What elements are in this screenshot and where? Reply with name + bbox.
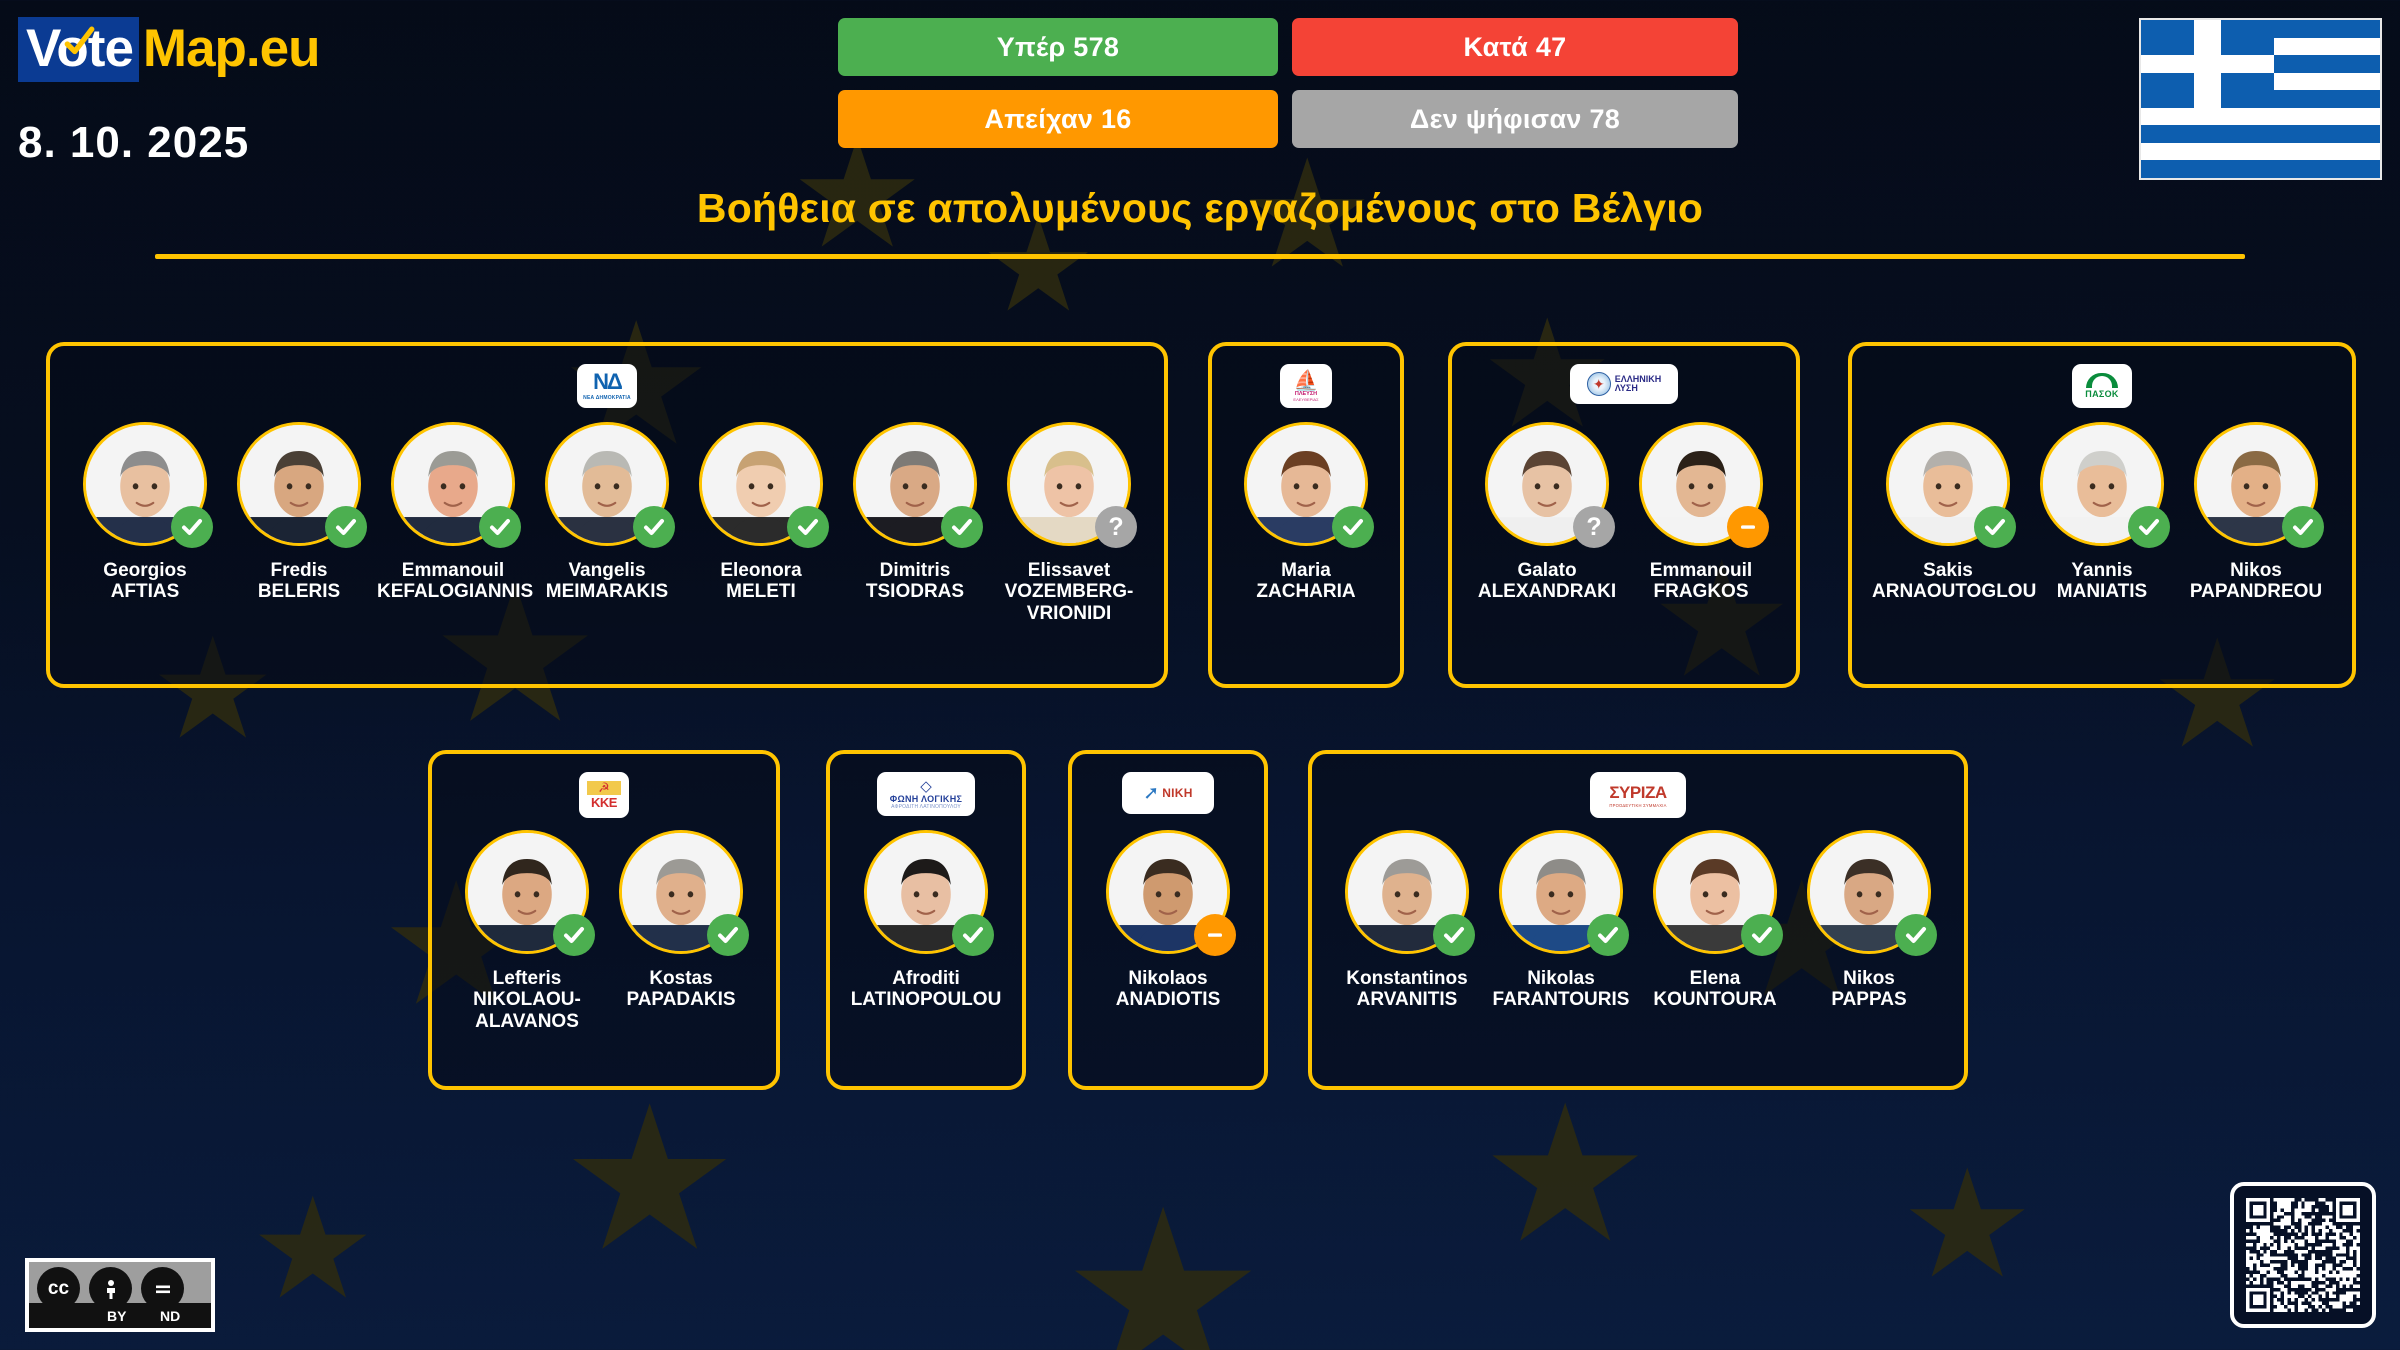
mep-first-name: Nikolas	[1485, 968, 1637, 989]
portrait-wrapper	[1886, 422, 2010, 546]
mep-first-name: Lefteris	[451, 968, 603, 989]
mep-name: Galato ALEXANDRAKI	[1471, 560, 1623, 603]
portrait-wrapper	[864, 830, 988, 954]
mep-last-name: AFTIAS	[69, 581, 221, 602]
portrait-wrapper	[1639, 422, 1763, 546]
mep-card[interactable]: ? Elissavet VOZEMBERG-VRIONIDI	[992, 422, 1146, 624]
party-group-el[interactable]: ΕΛΛΗΝΙΚΗΛΥΣΗ ? Galato ALEXANDRAKI	[1448, 342, 1800, 688]
mep-card[interactable]: Yannis MANIATIS	[2025, 422, 2179, 603]
member-list: Konstantinos ARVANITIS Nikolas FARANTOUR…	[1312, 830, 1964, 1011]
mep-name: Nikos PAPPAS	[1793, 968, 1945, 1011]
mep-name: Lefteris NIKOLAOU-ALAVANOS	[451, 968, 603, 1032]
portrait-wrapper	[1807, 830, 1931, 954]
portrait-wrapper	[699, 422, 823, 546]
mep-card[interactable]: Sakis ARNAOUTOGLOU	[1871, 422, 2025, 603]
party-logo-subtext: ΝΕΑ ΔΗΜΟΚΡΑΤΙΑ	[583, 395, 631, 401]
party-logo-subtext: ΑΦΡΟΔΙΤΗ ΛΑΤΙΝΟΠΟΥΛΟΥ	[891, 804, 961, 810]
mep-first-name: Galato	[1471, 560, 1623, 581]
star-decoration: ★	[1900, 1150, 2034, 1300]
mep-first-name: Vangelis	[531, 560, 683, 581]
party-group-pasok[interactable]: ΠΑΣΟΚ Sakis ARNAOUTOGLOU	[1848, 342, 2356, 688]
vote-tally-group: Υπέρ 578 Κατά 47 Απείχαν 16 Δεν ψήφισαν …	[838, 18, 1738, 148]
vote-badge-did-not-vote: ?	[1095, 506, 1137, 548]
mep-card[interactable]: Nikolaos ANADIOTIS	[1091, 830, 1245, 1011]
member-list: Lefteris NIKOLAOU-ALAVANOS Kostas PAPADA…	[432, 830, 776, 1032]
mep-last-name: VOZEMBERG-VRIONIDI	[993, 581, 1145, 624]
mep-last-name: FARANTOURIS	[1485, 989, 1637, 1010]
mep-last-name: PAPADAKIS	[605, 989, 757, 1010]
party-logo-text: ΕΛΛΗΝΙΚΗΛΥΣΗ	[1615, 375, 1662, 394]
tally-against[interactable]: Κατά 47	[1292, 18, 1738, 76]
mep-name: Fredis BELERIS	[223, 560, 375, 603]
portrait-wrapper	[465, 830, 589, 954]
party-logo-kke[interactable]: KKE	[579, 772, 629, 818]
star-decoration: ★	[250, 1180, 376, 1320]
mep-name: Kostas PAPADAKIS	[605, 968, 757, 1011]
vote-badge-abstain	[1727, 506, 1769, 548]
portrait-wrapper	[2040, 422, 2164, 546]
vote-badge-yes	[1741, 914, 1783, 956]
member-list: Georgios AFTIAS Fredis BELERIS	[50, 422, 1164, 624]
party-logo-niki[interactable]: ➚ΝΙΚΗ	[1122, 772, 1214, 814]
mep-last-name: ALEXANDRAKI	[1471, 581, 1623, 602]
tally-did-not-vote[interactable]: Δεν ψήφισαν 78	[1292, 90, 1738, 148]
member-list: ? Galato ALEXANDRAKI Emmanouil FRAGKOS	[1452, 422, 1796, 603]
portrait-wrapper: ?	[1007, 422, 1131, 546]
party-logo-mark: ΝΔ	[593, 371, 621, 393]
vote-badge-yes	[479, 506, 521, 548]
mep-card[interactable]: Elena KOUNTOURA	[1638, 830, 1792, 1011]
tally-for[interactable]: Υπέρ 578	[838, 18, 1278, 76]
mep-name: Elena KOUNTOURA	[1639, 968, 1791, 1011]
portrait-wrapper	[1244, 422, 1368, 546]
portrait-wrapper: ?	[1485, 422, 1609, 546]
mep-last-name: TSIODRAS	[839, 581, 991, 602]
mep-name: Nikolaos ANADIOTIS	[1092, 968, 1244, 1011]
mep-card[interactable]: ? Galato ALEXANDRAKI	[1470, 422, 1624, 603]
party-group-nd[interactable]: ΝΔΝΕΑ ΔΗΜΟΚΡΑΤΙΑ Georgios AFTIAS	[46, 342, 1168, 688]
creative-commons-badge[interactable]: cc BY ND	[25, 1258, 215, 1332]
portrait-wrapper	[391, 422, 515, 546]
mep-last-name: MEIMARAKIS	[531, 581, 683, 602]
star-decoration: ★	[1060, 1180, 1266, 1350]
mep-name: Yannis MANIATIS	[2026, 560, 2178, 603]
vote-badge-yes	[707, 914, 749, 956]
hammer-sickle-icon	[587, 781, 621, 795]
mep-card[interactable]: Nikos PAPPAS	[1792, 830, 1946, 1011]
title-divider	[155, 254, 2245, 259]
ship-icon: ⛵	[1294, 371, 1319, 391]
vote-badge-yes	[1974, 506, 2016, 548]
mep-first-name: Sakis	[1872, 560, 2024, 581]
portrait-wrapper	[2194, 422, 2318, 546]
party-logo-subtext: ΕΛΕΥΘΕΡΙΑΣ	[1293, 397, 1318, 402]
mep-card[interactable]: Konstantinos ARVANITIS	[1330, 830, 1484, 1011]
mep-name: Afroditi LATINOPOULOU	[850, 968, 1002, 1011]
mep-first-name: Yannis	[2026, 560, 2178, 581]
mep-name: Elissavet VOZEMBERG-VRIONIDI	[993, 560, 1145, 624]
vote-badge-yes	[633, 506, 675, 548]
party-logo-pasok[interactable]: ΠΑΣΟΚ	[2072, 364, 2132, 408]
mep-name: Maria ZACHARIA	[1230, 560, 1382, 603]
mep-card[interactable]: Fredis BELERIS	[222, 422, 376, 603]
mep-card[interactable]: Nikolas FARANTOURIS	[1484, 830, 1638, 1011]
party-logo-syriza[interactable]: ΣΥΡΙΖΑΠΡΟΟΔΕΥΤΙΚΗ ΣΥΜΜΑΧΙΑ	[1590, 772, 1686, 818]
portrait-wrapper	[237, 422, 361, 546]
mep-card[interactable]: Kostas PAPADAKIS	[604, 830, 758, 1011]
mep-first-name: Maria	[1230, 560, 1382, 581]
party-logo-text: ΝΙΚΗ	[1162, 786, 1193, 800]
mep-card[interactable]: Lefteris NIKOLAOU-ALAVANOS	[450, 830, 604, 1032]
mep-name: Konstantinos ARVANITIS	[1331, 968, 1483, 1011]
mep-name: Georgios AFTIAS	[69, 560, 221, 603]
vote-badge-yes	[2282, 506, 2324, 548]
vote-badge-yes	[1587, 914, 1629, 956]
portrait-wrapper	[619, 830, 743, 954]
mep-first-name: Elissavet	[993, 560, 1145, 581]
portrait-wrapper	[853, 422, 977, 546]
checkmark-icon	[62, 26, 96, 60]
mep-card[interactable]: Maria ZACHARIA	[1229, 422, 1383, 603]
arrow-icon: ➚	[1143, 784, 1159, 803]
star-decoration: ★	[1480, 1080, 1650, 1270]
mep-last-name: LATINOPOULOU	[850, 989, 1002, 1010]
vote-badge-yes	[941, 506, 983, 548]
party-logo-fl[interactable]: ◇ΦΩΝΗ ΛΟΓΙΚΗΣΑΦΡΟΔΙΤΗ ΛΑΤΙΝΟΠΟΥΛΟΥ	[877, 772, 975, 816]
party-logo-text: ΠΑΣΟΚ	[2085, 389, 2118, 399]
mep-card[interactable]: Georgios AFTIAS	[68, 422, 222, 603]
mep-last-name: KOUNTOURA	[1639, 989, 1791, 1010]
mep-first-name: Fredis	[223, 560, 375, 581]
page-title: Βοήθεια σε απολυμένους εργαζομένους στο …	[0, 185, 2400, 232]
party-group-fl[interactable]: ◇ΦΩΝΗ ΛΟΓΙΚΗΣΑΦΡΟΔΙΤΗ ΛΑΤΙΝΟΠΟΥΛΟΥ Afrod…	[826, 750, 1026, 1090]
greece-flag-icon	[2139, 18, 2382, 180]
mep-last-name: ARVANITIS	[1331, 989, 1483, 1010]
party-logo-text: KKE	[591, 795, 617, 810]
party-logo-text: ΣΥΡΙΖΑ	[1609, 783, 1666, 803]
star-decoration: ★	[560, 1080, 739, 1280]
member-list: Afroditi LATINOPOULOU	[830, 830, 1022, 1011]
portrait-wrapper	[545, 422, 669, 546]
mep-last-name: NIKOLAOU-ALAVANOS	[451, 989, 603, 1032]
mep-first-name: Eleonora	[685, 560, 837, 581]
mep-last-name: FRAGKOS	[1625, 581, 1777, 602]
vote-title-block: Βοήθεια σε απολυμένους εργαζομένους στο …	[0, 185, 2400, 259]
mep-name: Eleonora MELETI	[685, 560, 837, 603]
logo-map-text: Map.eu	[139, 19, 320, 78]
site-logo[interactable]: VoteMap.eu	[18, 18, 320, 79]
mep-name: Nikos PAPANDREOU	[2180, 560, 2332, 603]
mep-last-name: KEFALOGIANNIS	[377, 581, 529, 602]
member-list: Maria ZACHARIA	[1212, 422, 1400, 603]
party-logo-el[interactable]: ΕΛΛΗΝΙΚΗΛΥΣΗ	[1570, 364, 1678, 404]
party-groups-row-2: KKE Lefteris NIKOLAOU-ALAVANOS	[0, 750, 2400, 1108]
party-group-syriza[interactable]: ΣΥΡΙΖΑΠΡΟΟΔΕΥΤΙΚΗ ΣΥΜΜΑΧΙΑ Konstantinos …	[1308, 750, 1968, 1090]
mep-name: Nikolas FARANTOURIS	[1485, 968, 1637, 1011]
mep-first-name: Elena	[1639, 968, 1791, 989]
mep-first-name: Georgios	[69, 560, 221, 581]
vote-badge-abstain	[1194, 914, 1236, 956]
portrait-wrapper	[1345, 830, 1469, 954]
party-group-kke[interactable]: KKE Lefteris NIKOLAOU-ALAVANOS	[428, 750, 780, 1090]
mep-first-name: Emmanouil	[1625, 560, 1777, 581]
mep-name: Sakis ARNAOUTOGLOU	[1872, 560, 2024, 603]
mep-last-name: ARNAOUTOGLOU	[1872, 581, 2024, 602]
party-groups-row-1: ΝΔΝΕΑ ΔΗΜΟΚΡΑΤΙΑ Georgios AFTIAS	[0, 342, 2400, 702]
party-group-pl[interactable]: ⛵ΠΛΕΥΣΗΕΛΕΥΘΕΡΙΑΣ Maria ZACHARIA	[1208, 342, 1404, 688]
mep-last-name: ZACHARIA	[1230, 581, 1382, 602]
vote-badge-yes	[1332, 506, 1374, 548]
mep-last-name: PAPPAS	[1793, 989, 1945, 1010]
portrait-wrapper	[1106, 830, 1230, 954]
mep-last-name: MELETI	[685, 581, 837, 602]
portrait-wrapper	[83, 422, 207, 546]
portrait-wrapper	[1499, 830, 1623, 954]
party-logo-nd[interactable]: ΝΔΝΕΑ ΔΗΜΟΚΡΑΤΙΑ	[577, 364, 637, 408]
cc-by-label: BY	[107, 1308, 126, 1324]
compass-icon	[1587, 372, 1611, 396]
vote-badge-yes	[952, 914, 994, 956]
qr-code[interactable]	[2230, 1182, 2376, 1328]
mep-first-name: Konstantinos	[1331, 968, 1483, 989]
mep-first-name: Afroditi	[850, 968, 1002, 989]
mep-first-name: Nikos	[1793, 968, 1945, 989]
cc-nd-label: ND	[160, 1308, 180, 1324]
vote-badge-yes	[553, 914, 595, 956]
mep-name: Emmanouil KEFALOGIANNIS	[377, 560, 529, 603]
mep-card[interactable]: Vangelis MEIMARAKIS	[530, 422, 684, 603]
mep-card[interactable]: Afroditi LATINOPOULOU	[849, 830, 1003, 1011]
mep-first-name: Kostas	[605, 968, 757, 989]
mep-name: Dimitris TSIODRAS	[839, 560, 991, 603]
party-logo-pl[interactable]: ⛵ΠΛΕΥΣΗΕΛΕΥΘΕΡΙΑΣ	[1280, 364, 1332, 408]
tally-abstain[interactable]: Απείχαν 16	[838, 90, 1278, 148]
mep-name: Emmanouil FRAGKOS	[1625, 560, 1777, 603]
portrait-wrapper	[1653, 830, 1777, 954]
mep-last-name: ANADIOTIS	[1092, 989, 1244, 1010]
sun-icon	[2086, 373, 2118, 388]
mep-last-name: BELERIS	[223, 581, 375, 602]
mep-first-name: Dimitris	[839, 560, 991, 581]
vote-badge-yes	[1433, 914, 1475, 956]
mep-card[interactable]: Dimitris TSIODRAS	[838, 422, 992, 603]
mep-card[interactable]: Eleonora MELETI	[684, 422, 838, 603]
vote-badge-did-not-vote: ?	[1573, 506, 1615, 548]
mep-card[interactable]: Nikos PAPANDREOU	[2179, 422, 2333, 603]
member-list: Sakis ARNAOUTOGLOU Yannis MANIATIS	[1852, 422, 2352, 603]
vote-badge-yes	[2128, 506, 2170, 548]
mep-last-name: PAPANDREOU	[2180, 581, 2332, 602]
vote-badge-yes	[171, 506, 213, 548]
party-logo-subtext: ΠΡΟΟΔΕΥΤΙΚΗ ΣΥΜΜΑΧΙΑ	[1609, 803, 1666, 808]
vote-badge-yes	[325, 506, 367, 548]
mep-card[interactable]: Emmanouil KEFALOGIANNIS	[376, 422, 530, 603]
member-list: Nikolaos ANADIOTIS	[1072, 830, 1264, 1011]
mep-first-name: Emmanouil	[377, 560, 529, 581]
party-group-niki[interactable]: ➚ΝΙΚΗ Nikolaos ANADIOTIS	[1068, 750, 1268, 1090]
mep-last-name: MANIATIS	[2026, 581, 2178, 602]
mep-card[interactable]: Emmanouil FRAGKOS	[1624, 422, 1778, 603]
mep-first-name: Nikolaos	[1092, 968, 1244, 989]
mep-first-name: Nikos	[2180, 560, 2332, 581]
page-header: VoteMap.eu 8. 10. 2025 Υπέρ 578 Κατά 47 …	[0, 0, 2400, 200]
diamond-icon: ◇	[920, 779, 932, 794]
vote-date: 8. 10. 2025	[18, 118, 249, 168]
mep-name: Vangelis MEIMARAKIS	[531, 560, 683, 603]
party-logo-text: ΦΩΝΗ ΛΟΓΙΚΗΣ	[890, 794, 962, 804]
vote-badge-yes	[787, 506, 829, 548]
vote-badge-yes	[1895, 914, 1937, 956]
